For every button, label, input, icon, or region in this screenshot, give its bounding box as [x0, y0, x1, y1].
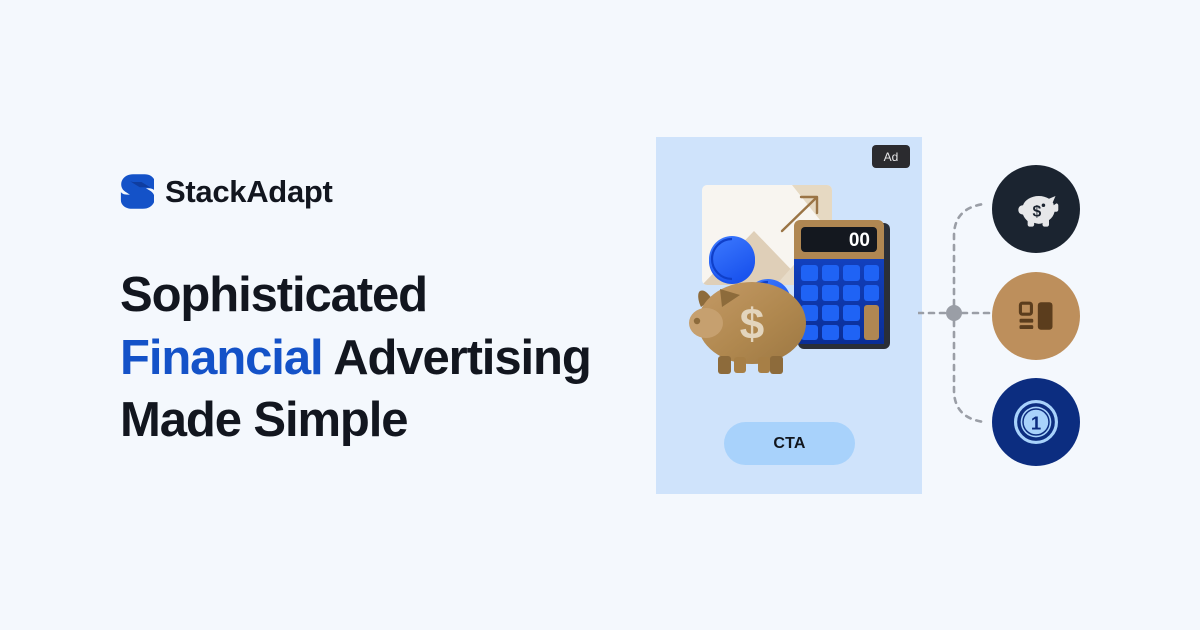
headline-accent-word: Financial	[120, 331, 323, 385]
document-card-glyph	[1014, 294, 1058, 338]
headline-line-3: Made Simple	[120, 393, 407, 447]
svg-text:$: $	[1033, 203, 1042, 220]
credit-card-statement-icon[interactable]	[992, 272, 1080, 360]
left-content-panel: StackAdapt Sophisticated Financial Adver…	[120, 168, 620, 452]
piggy-bank-glyph: $	[1010, 183, 1062, 235]
coin-top-icon	[709, 236, 755, 284]
finance-illustration: 00	[656, 171, 922, 401]
headline-line-1: Sophisticated	[120, 268, 427, 322]
coin-one-icon[interactable]: 1	[992, 378, 1080, 466]
connector-line-bottom	[954, 321, 984, 422]
coin-numeral-1: 1	[1031, 412, 1041, 433]
ad-badge-label: Ad	[884, 150, 899, 164]
calculator-display: 00	[849, 230, 870, 251]
coin-numeral-glyph: 1	[1010, 396, 1062, 448]
connector-hub-node	[946, 305, 962, 321]
brand-name: StackAdapt	[165, 176, 333, 207]
page-title: Sophisticated Financial Advertising Made…	[120, 264, 650, 452]
piggy-bank-savings-icon[interactable]: $	[992, 165, 1080, 253]
stackadapt-s-logo-icon	[120, 173, 154, 209]
brand-lockup: StackAdapt	[120, 168, 620, 214]
ad-badge: Ad	[872, 145, 910, 168]
headline-line-2-rest: Advertising	[333, 331, 590, 385]
dollar-sign-glyph: $	[740, 300, 764, 349]
piggy-bank-icon: $	[689, 282, 806, 374]
cta-button[interactable]: CTA	[724, 422, 855, 465]
ad-preview-card[interactable]: Ad	[656, 137, 922, 494]
promo-banner: StackAdapt Sophisticated Financial Adver…	[0, 0, 1200, 630]
calculator-icon: 00	[794, 220, 890, 349]
connector-line-top	[954, 204, 984, 305]
